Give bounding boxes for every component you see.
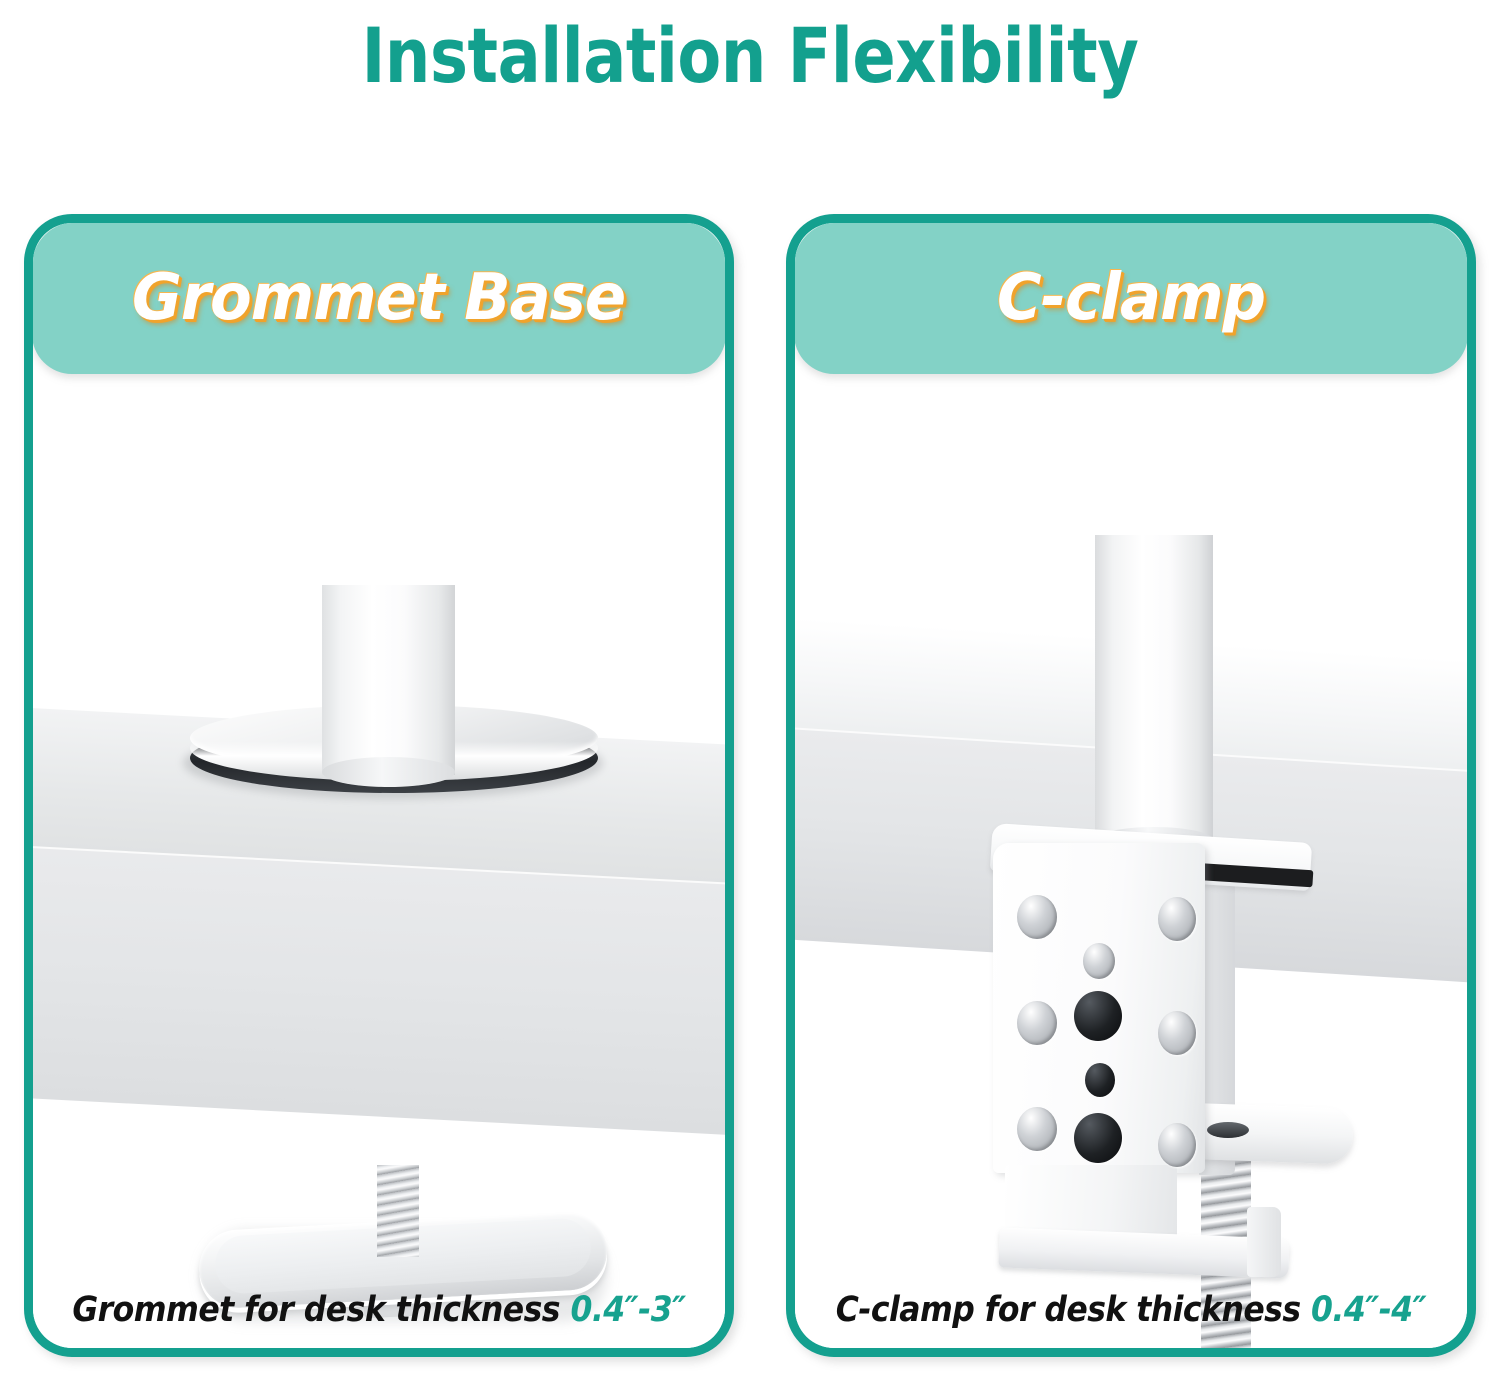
clamp-washer-hole [1207, 1122, 1249, 1138]
clamp-hole-grey-right-bottom [1158, 1123, 1196, 1167]
illustration-grommet-base [33, 375, 725, 1357]
badge-c-clamp-label: C-clamp [997, 261, 1265, 335]
panel-c-clamp: C-clamp C-clamp [786, 214, 1476, 1357]
badge-grommet-base-label: Grommet Base [132, 261, 625, 335]
clamp-jaw-lip [1247, 1207, 1281, 1277]
caption-grommet: Grommet for desk thickness 0.4″-3″ [68, 1290, 691, 1330]
desk-front-face [33, 845, 725, 1142]
caption-grommet-measure: 0.4″-3″ [570, 1290, 685, 1330]
caption-grommet-text: Grommet for desk thickness [72, 1290, 560, 1330]
clamp-hole-grey-right-middle [1158, 1011, 1196, 1055]
monitor-arm-pole [1095, 535, 1213, 845]
badge-c-clamp: C-clamp [794, 222, 1468, 374]
caption-c-clamp-text: C-clamp for desk thickness [836, 1290, 1301, 1330]
grommet-threaded-screw [377, 1165, 419, 1257]
clamp-hole-dark-upper [1074, 991, 1122, 1041]
page-title: Installation Flexibility [120, 0, 1380, 110]
clamp-hole-centre-upper [1083, 943, 1115, 979]
badge-grommet-base: Grommet Base [32, 222, 726, 374]
illustration-c-clamp [795, 375, 1467, 1357]
clamp-hole-grey-left-top [1017, 895, 1057, 939]
monitor-arm-pole [322, 585, 455, 775]
clamp-hole-grey-left-bottom [1017, 1107, 1057, 1151]
clamp-hole-grey-right-top [1158, 897, 1196, 941]
clamp-hole-dark-middle [1085, 1063, 1115, 1097]
clamp-hole-dark-lower [1074, 1113, 1122, 1163]
clamp-hole-grey-left-middle [1017, 1001, 1057, 1045]
caption-c-clamp: C-clamp for desk thickness 0.4″-4″ [829, 1290, 1434, 1330]
monitor-arm-pole-foot [322, 757, 455, 787]
caption-c-clamp-measure: 0.4″-4″ [1311, 1290, 1426, 1330]
panel-grommet-base: Grommet Base Grommet for desk thickness … [24, 214, 734, 1357]
